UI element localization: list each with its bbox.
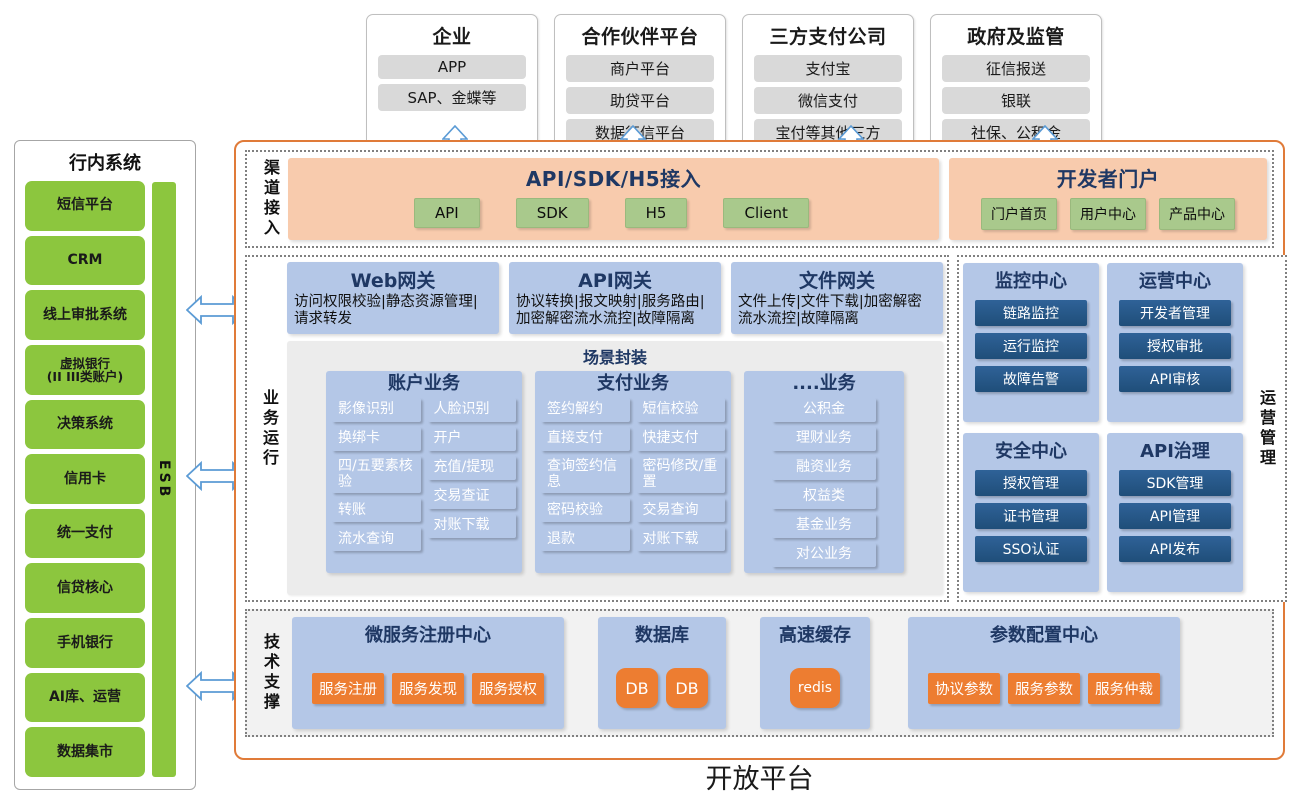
sidebar-item-virtual-bank[interactable]: 虚拟银行 (II III类账户)	[25, 345, 145, 395]
tech-support-band: 技术支撑 微服务注册中心 服务注册 服务发现 服务授权 数据库 DB DB 高速…	[245, 609, 1274, 737]
external-card-government-regulator[interactable]: 政府及监管 征信报送 银联 社保、公积金	[930, 14, 1102, 157]
sidebar-item-credit-card[interactable]: 信用卡	[25, 454, 145, 504]
sidebar-item-label: 虚拟银行 (II III类账户)	[47, 357, 124, 383]
scene-item[interactable]: 转账	[332, 498, 421, 522]
gateway-row: Web网关 访问权限校验|静态资源管理|请求转发 API网关 协议转换|报文映射…	[287, 262, 943, 334]
gateway-desc: 协议转换|报文映射|服务路由|加密解密流水流控|故障隔离	[516, 294, 714, 328]
scene-item[interactable]: 影像识别	[332, 398, 421, 422]
gateway-title: Web网关	[294, 266, 492, 293]
scene-encapsulation-container: 场景封装 账户业务 影像识别 换绑卡 四/五要素核验 转账	[287, 341, 943, 595]
scene-item[interactable]: 四/五要素核验	[332, 456, 421, 493]
external-card-title: 三方支付公司	[754, 22, 902, 49]
tech-box-title: 参数配置中心	[916, 621, 1172, 647]
esb-label: ESB	[156, 460, 172, 499]
scene-item[interactable]: 充值/提现	[428, 456, 517, 480]
external-card-title: 合作伙伴平台	[566, 22, 714, 49]
scene-item[interactable]: 对账下载	[428, 514, 517, 538]
scene-item[interactable]: 查询签约信息	[541, 456, 630, 493]
scene-item[interactable]: 人脸识别	[428, 398, 517, 422]
sidebar-item-mobile-bank[interactable]: 手机银行	[25, 618, 145, 668]
ops-box-security-center[interactable]: 安全中心 授权管理 证书管理 SSO认证	[963, 433, 1099, 592]
chip-client[interactable]: Client	[723, 198, 808, 228]
gateway-web[interactable]: Web网关 访问权限校验|静态资源管理|请求转发	[287, 262, 499, 334]
sidebar-item-credit-core[interactable]: 信贷核心	[25, 563, 145, 613]
external-item[interactable]: APP	[378, 55, 526, 79]
external-item[interactable]: 支付宝	[754, 55, 902, 82]
tech-box-database[interactable]: 数据库 DB DB	[598, 617, 726, 729]
external-card-title: 政府及监管	[942, 22, 1090, 49]
ops-box-operation-center[interactable]: 运营中心 开发者管理 授权审批 API审核	[1107, 263, 1243, 422]
open-platform-label: 开放平台	[234, 757, 1285, 796]
ops-item[interactable]: 授权审批	[1119, 333, 1231, 359]
ops-box-title: API治理	[1113, 437, 1237, 463]
chip-portal-home[interactable]: 门户首页	[981, 198, 1057, 230]
tech-support-band-label: 技术支撑	[252, 617, 288, 729]
scene-item[interactable]: 理财业务	[772, 427, 876, 451]
gateway-desc: 访问权限校验|静态资源管理|请求转发	[294, 294, 492, 328]
gateway-title: API网关	[516, 266, 714, 293]
channel-access-band-label: 渠道接入	[252, 158, 288, 240]
tech-item[interactable]: 服务参数	[1008, 673, 1080, 704]
ops-item[interactable]: API审核	[1119, 366, 1231, 392]
ops-box-title: 安全中心	[969, 437, 1093, 463]
sidebar-item-online-approval[interactable]: 线上审批系统	[25, 290, 145, 340]
scene-item[interactable]: 交易查询	[637, 498, 726, 522]
sidebar-item-unified-payment[interactable]: 统一支付	[25, 509, 145, 559]
channel-access-band: 渠道接入 API/SDK/H5接入 API SDK H5 Client 开发者门…	[245, 150, 1274, 248]
open-platform-frame: 渠道接入 API/SDK/H5接入 API SDK H5 Client 开发者门…	[234, 140, 1285, 760]
external-item[interactable]: 征信报送	[942, 55, 1090, 82]
scene-item[interactable]: 短信校验	[637, 398, 726, 422]
tech-box-title: 数据库	[606, 621, 718, 647]
tech-box-title: 微服务注册中心	[300, 621, 556, 647]
external-item[interactable]: SAP、金蝶等	[378, 84, 526, 111]
scene-item[interactable]: 换绑卡	[332, 427, 421, 451]
gateway-title: 文件网关	[738, 266, 936, 293]
scene-item[interactable]: 开户	[428, 427, 517, 451]
ops-item[interactable]: 开发者管理	[1119, 300, 1231, 326]
scene-item[interactable]: 权益类	[772, 485, 876, 509]
scene-item[interactable]: 对账下载	[637, 527, 726, 551]
external-item[interactable]: 助贷平台	[566, 87, 714, 114]
scene-item[interactable]: 直接支付	[541, 427, 630, 451]
ops-item[interactable]: SSO认证	[975, 536, 1087, 562]
tech-box-parameter-config-center[interactable]: 参数配置中心 协议参数 服务参数 服务仲裁	[908, 617, 1180, 729]
gateway-desc: 文件上传|文件下载|加密解密流水流控|故障隔离	[738, 294, 936, 328]
internal-systems-panel: 行内系统 短信平台 CRM 线上审批系统 虚拟银行 (II III类账户) 决策…	[14, 140, 196, 790]
tech-item[interactable]: 协议参数	[928, 673, 1000, 704]
tech-item[interactable]: 服务授权	[472, 673, 544, 704]
ops-item[interactable]: API发布	[1119, 536, 1231, 562]
scene-column-account-business[interactable]: 账户业务 影像识别 换绑卡 四/五要素核验 转账 流水查询	[326, 371, 522, 573]
ops-item[interactable]: 链路监控	[975, 300, 1087, 326]
ops-item[interactable]: 运行监控	[975, 333, 1087, 359]
ops-item[interactable]: 故障告警	[975, 366, 1087, 392]
scene-column-payment-business[interactable]: 支付业务 签约解约 直接支付 查询签约信息 密码校验 退款	[535, 371, 731, 573]
external-item[interactable]: 银联	[942, 87, 1090, 114]
redis-cylinder-icon[interactable]: redis	[790, 668, 840, 708]
scene-item[interactable]: 公积金	[772, 398, 876, 422]
gateway-file[interactable]: 文件网关 文件上传|文件下载|加密解密流水流控|故障隔离	[731, 262, 943, 334]
scene-item[interactable]: 融资业务	[772, 456, 876, 480]
scene-column-title: 账户业务	[332, 374, 516, 394]
scene-item[interactable]: 密码修改/重置	[637, 456, 726, 493]
scene-item[interactable]: 签约解约	[541, 398, 630, 422]
operations-management-band: 监控中心 链路监控 运行监控 故障告警 运营中心 开发者管理 授权审批 API审…	[957, 255, 1287, 602]
scene-item[interactable]: 基金业务	[772, 514, 876, 538]
external-card-third-party-payment[interactable]: 三方支付公司 支付宝 微信支付 宝付等其他三方	[742, 14, 914, 157]
sidebar-item-crm[interactable]: CRM	[25, 236, 145, 286]
scene-item[interactable]: 快捷支付	[637, 427, 726, 451]
scene-item[interactable]: 对公业务	[772, 543, 876, 567]
external-systems-row: 企业 APP SAP、金蝶等 合作伙伴平台 商户平台 助贷平台 数据征信平台 三…	[366, 14, 1102, 157]
gateway-api[interactable]: API网关 协议转换|报文映射|服务路由|加密解密流水流控|故障隔离	[509, 262, 721, 334]
sidebar-item-sms-platform[interactable]: 短信平台	[25, 181, 145, 231]
api-sdk-h5-access-box[interactable]: API/SDK/H5接入 API SDK H5 Client	[288, 158, 939, 240]
scene-column-other-business[interactable]: ....业务 公积金 理财业务 融资业务 权益类 基金业务 对公业务	[744, 371, 904, 573]
scene-encapsulation-title: 场景封装	[295, 344, 935, 368]
chip-user-center[interactable]: 用户中心	[1070, 198, 1146, 230]
scene-item[interactable]: 流水查询	[332, 527, 421, 551]
operations-management-band-label: 运营管理	[1251, 263, 1281, 594]
tech-box-microservice-registry[interactable]: 微服务注册中心 服务注册 服务发现 服务授权	[292, 617, 564, 729]
chip-api[interactable]: API	[414, 198, 480, 228]
internal-systems-list: 短信平台 CRM 线上审批系统 虚拟银行 (II III类账户) 决策系统 信用…	[25, 181, 145, 777]
chip-sdk[interactable]: SDK	[516, 198, 589, 228]
business-operation-band: 业务运行 Web网关 访问权限校验|静态资源管理|请求转发 API网关 协议转换…	[245, 255, 949, 602]
ops-item[interactable]: API管理	[1119, 503, 1231, 529]
tech-box-title: 高速缓存	[768, 621, 862, 647]
ops-item[interactable]: 授权管理	[975, 470, 1087, 496]
scene-column-title: ....业务	[750, 374, 898, 394]
ops-box-api-governance[interactable]: API治理 SDK管理 API管理 API发布	[1107, 433, 1243, 592]
external-card-title: 企业	[378, 22, 526, 49]
chip-h5[interactable]: H5	[625, 198, 688, 228]
scene-column-title: 支付业务	[541, 374, 725, 394]
external-item[interactable]: 商户平台	[566, 55, 714, 82]
sidebar-item-ai-library[interactable]: AI库、运营	[25, 673, 145, 723]
tech-box-cache[interactable]: 高速缓存 redis	[760, 617, 870, 729]
ops-item[interactable]: 证书管理	[975, 503, 1087, 529]
scene-item[interactable]: 密码校验	[541, 498, 630, 522]
tech-item[interactable]: 服务仲裁	[1088, 673, 1160, 704]
database-cylinder-icon[interactable]: DB	[666, 668, 708, 708]
page-title: 行内系统	[25, 149, 185, 175]
developer-portal-title: 开发者门户	[957, 163, 1259, 192]
external-item[interactable]: 微信支付	[754, 87, 902, 114]
scene-item[interactable]: 退款	[541, 527, 630, 551]
tech-item[interactable]: 服务注册	[312, 673, 384, 704]
database-cylinder-icon[interactable]: DB	[616, 668, 658, 708]
ops-box-title: 监控中心	[969, 267, 1093, 293]
sidebar-item-decision-system[interactable]: 决策系统	[25, 400, 145, 450]
chip-product-center[interactable]: 产品中心	[1159, 198, 1235, 230]
sidebar-item-data-mart[interactable]: 数据集市	[25, 727, 145, 777]
scene-item[interactable]: 交易查证	[428, 485, 517, 509]
ops-box-monitoring-center[interactable]: 监控中心 链路监控 运行监控 故障告警	[963, 263, 1099, 422]
esb-bus: ESB	[152, 182, 176, 777]
tech-item[interactable]: 服务发现	[392, 673, 464, 704]
api-sdk-h5-title: API/SDK/H5接入	[296, 163, 931, 192]
ops-box-title: 运营中心	[1113, 267, 1237, 293]
developer-portal-box[interactable]: 开发者门户 门户首页 用户中心 产品中心	[949, 158, 1267, 240]
ops-item[interactable]: SDK管理	[1119, 470, 1231, 496]
business-operation-band-label: 业务运行	[251, 262, 287, 595]
